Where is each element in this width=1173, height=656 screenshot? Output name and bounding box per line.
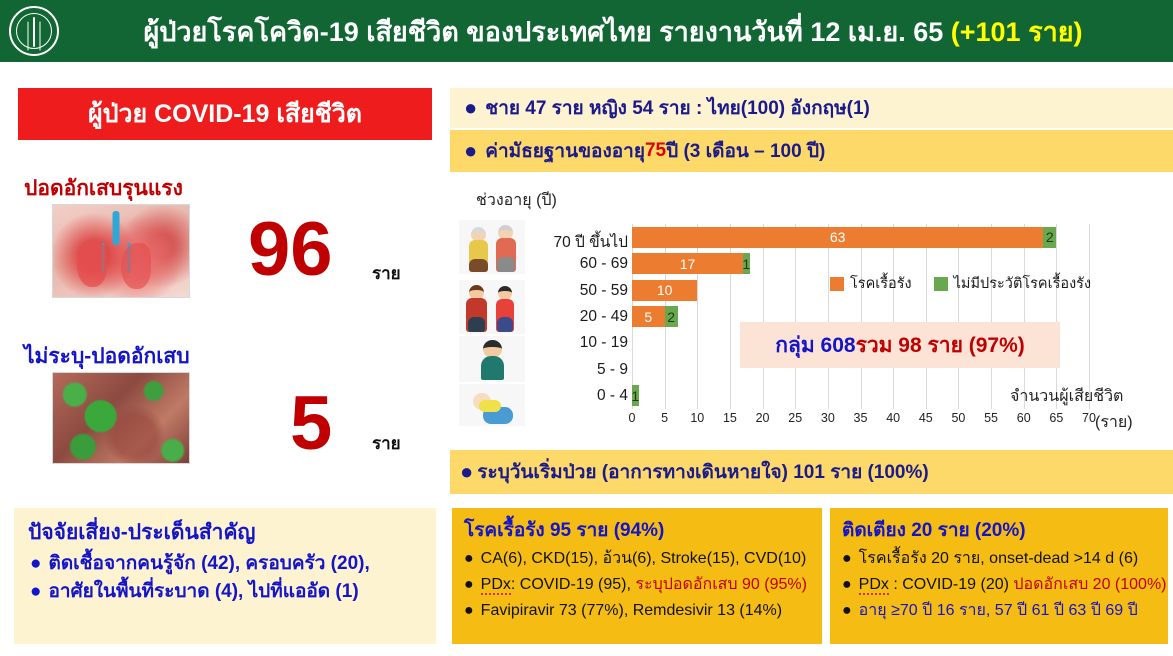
median-age-suffix: ปี (3 เดือน – 100 ปี) [666, 136, 825, 166]
chart-x-tick-label: 10 [690, 411, 704, 425]
chart-x-tick-label: 20 [756, 411, 770, 425]
chart-x-tick-label: 5 [661, 411, 668, 425]
chart-category-label: 10 - 19 [478, 334, 628, 352]
chronic-item-2-pdx: PDx [481, 576, 511, 595]
chronic-disease-title: โรคเรื้อรัง 95 ราย (94%) [464, 515, 664, 545]
legend-label-chronic: โรคเรื้อรัง [850, 272, 912, 295]
chart-category-label: 5 - 9 [478, 361, 628, 379]
chart-x-tick-label: 25 [788, 411, 802, 425]
chart-gridline [926, 224, 927, 409]
risk-factors-title: ปัจจัยเสี่ยง-ประเด็นสำคัญ [28, 516, 255, 549]
chart-gridline [991, 224, 992, 409]
chronic-disease-list: ●CA(6), CKD(15), อ้วน(6), Stroke(15), CV… [464, 546, 807, 624]
median-age-prefix: ค่ามัธยฐานของอายุ [485, 136, 645, 166]
legend-swatch-chronic [830, 277, 844, 291]
gender-nationality-text: ชาย 47 ราย หญิง 54 ราย : ไทย(100) อังกฤษ… [485, 93, 870, 123]
chart-gridline [861, 224, 862, 409]
chart-gridline [828, 224, 829, 409]
legend-item-none: ไม่มีประวัติโรคเรื้องรัง [934, 272, 1091, 295]
group-608-callout: กลุ่ม 608 รวม 98 ราย (97%) [740, 322, 1060, 368]
risk-item-text: อาศัยในพื้นที่ระบาด (4), ไปที่แออัด (1) [48, 581, 358, 602]
chart-x-tick-label: 30 [821, 411, 835, 425]
chart-gridline [1056, 224, 1057, 409]
chart-x-tick-label: 45 [919, 411, 933, 425]
callout-prefix: กลุ่ม 608 [775, 329, 855, 362]
chart-bar-segment: 1 [632, 385, 639, 406]
callout-highlight: รวม 98 ราย (97%) [856, 329, 1025, 362]
list-item: ●อายุ ≥70 ปี 16 ราย, 57 ปี 61 ปี 63 ปี 6… [842, 598, 1167, 624]
legend-swatch-none [934, 277, 948, 291]
chart-bar-segment: 1 [743, 253, 750, 274]
chart-x-axis: 0510152025303540455055606570 [632, 409, 1089, 431]
page-title: ผู้ป่วยโรคโควิด-19 เสียชีวิต ของประเทศไท… [65, 10, 1173, 53]
bed-item-2-highlight: ปอดอักเสบ 20 (100%) [1013, 576, 1166, 593]
list-item: ●PDx: COVID-19 (95), ระบุปอดอักเสบ 90 (9… [464, 572, 807, 598]
unspecified-pneumonia-count: 5 [290, 386, 332, 462]
chart-gridline [697, 224, 698, 409]
list-item: ●CA(6), CKD(15), อ้วน(6), Stroke(15), CV… [464, 546, 807, 572]
chart-category-label: 50 - 59 [478, 282, 628, 300]
chart-x-tick-label: 0 [629, 411, 636, 425]
chart-x-tick-label: 70 [1082, 411, 1096, 425]
page-header: ผู้ป่วยโรคโควิด-19 เสียชีวิต ของประเทศไท… [0, 0, 1173, 62]
severe-pneumonia-unit: ราย [372, 260, 401, 287]
chart-gridline [730, 224, 731, 409]
chart-gridline [1024, 224, 1025, 409]
list-item: ●Favipiravir 73 (77%), Remdesivir 13 (14… [464, 598, 807, 624]
infographic-page: ผู้ป่วยโรคโควิด-19 เสียชีวิต ของประเทศไท… [0, 0, 1173, 656]
bullet-icon: ● [842, 602, 852, 619]
severe-pneumonia-lungs-photo [52, 204, 190, 298]
chart-x-tick-label: 40 [886, 411, 900, 425]
chronic-item-3: Favipiravir 73 (77%), Remdesivir 13 (14%… [481, 602, 782, 619]
list-item: ●อาศัยในพื้นที่ระบาด (4), ไปที่แออัด (1) [30, 578, 370, 606]
risk-item-text: ติดเชื้อจากคนรู้จัก (42), ครอบครัว (20), [48, 553, 369, 574]
chart-plot-area: 70 ปี ขึ้นไป63260 - 6917150 - 591020 - 4… [632, 224, 1089, 409]
onset-date-row: ● ระบุวันเริ่มป่วย (อาการทางเดินหายใจ) 1… [450, 450, 1173, 494]
bedridden-box: ติดเตียง 20 ราย (20%) ●โรคเรื้อรัง 20 รา… [830, 508, 1168, 644]
severe-pneumonia-heading: ปอดอักเสบรุนแรง [24, 172, 183, 205]
chronic-disease-box: โรคเรื้อรัง 95 ราย (94%) ●CA(6), CKD(15)… [452, 508, 822, 644]
chart-gridline [893, 224, 894, 409]
moph-seal-icon [9, 6, 59, 56]
bullet-icon: ● [464, 550, 474, 567]
chart-bar-segment: 5 [632, 306, 665, 327]
bed-item-2-pdx: PDx [859, 576, 889, 595]
bullet-icon: ● [30, 553, 41, 574]
unspecified-pneumonia-unit: ราย [372, 430, 401, 457]
chart-x-tick-label: 50 [951, 411, 965, 425]
chart-x-tick-label: 15 [723, 411, 737, 425]
coronavirus-photo [52, 372, 190, 464]
chart-x-tick-label: 35 [854, 411, 868, 425]
chronic-item-2-mid: : COVID-19 (95), [511, 576, 635, 593]
chart-category-label: 60 - 69 [478, 255, 628, 273]
chronic-item-2-highlight: ระบุปอดอักเสบ 90 (95%) [635, 576, 807, 593]
list-item: ●ติดเชื้อจากคนรู้จัก (42), ครอบครัว (20)… [30, 550, 370, 578]
chart-gridline [1089, 224, 1090, 409]
chart-gridline [958, 224, 959, 409]
severe-pneumonia-count: 96 [248, 212, 333, 288]
median-age-row: ● ค่ามัธยฐานของอายุ 75 ปี (3 เดือน – 100… [450, 130, 1173, 172]
legend-label-none: ไม่มีประวัติโรคเรื้องรัง [954, 272, 1091, 295]
bullet-icon: ● [842, 550, 852, 567]
chart-category-label: 0 - 4 [478, 387, 628, 405]
chart-category-label: 70 ปี ขึ้นไป [478, 229, 628, 254]
median-age-value: 75 [645, 140, 666, 162]
chart-x-tick-label: 55 [984, 411, 998, 425]
age-distribution-chart: ช่วงอายุ (ปี) [450, 172, 1173, 450]
chart-legend: โรคเรื้อรัง ไม่มีประวัติโรคเรื้องรัง [830, 272, 1091, 295]
covid-death-banner-label: ผู้ป่วย COVID-19 เสียชีวิต [88, 94, 362, 134]
header-title-highlight: (+101 ราย) [951, 17, 1083, 47]
bullet-icon: ● [842, 576, 852, 593]
risk-factors-list: ●ติดเชื้อจากคนรู้จัก (42), ครอบครัว (20)… [30, 550, 370, 605]
chart-bar-segment: 2 [665, 306, 678, 327]
legend-item-chronic: โรคเรื้อรัง [830, 272, 912, 295]
chronic-item-1: CA(6), CKD(15), อ้วน(6), Stroke(15), CVD… [481, 550, 807, 567]
chart-x-tick-label: 65 [1049, 411, 1063, 425]
bullet-icon: ● [460, 461, 473, 483]
chart-x-unit: (ราย) [1095, 410, 1133, 435]
bullet-icon: ● [464, 140, 477, 162]
unspecified-pneumonia-heading: ไม่ระบุ-ปอดอักเสบ [24, 340, 190, 373]
bed-item-1: โรคเรื้อรัง 20 ราย, onset-dead >14 d (6) [859, 550, 1139, 567]
chart-bar-segment: 10 [632, 280, 697, 301]
chart-bar-segment: 2 [1043, 227, 1056, 248]
onset-date-text: ระบุวันเริ่มป่วย (อาการทางเดินหายใจ) 101… [477, 457, 928, 487]
chart-gridline [795, 224, 796, 409]
bullet-icon: ● [464, 576, 474, 593]
chart-ylabel: ช่วงอายุ (ปี) [476, 188, 557, 213]
list-item: ●โรคเรื้อรัง 20 ราย, onset-dead >14 d (6… [842, 546, 1167, 572]
gender-nationality-row: ● ชาย 47 ราย หญิง 54 ราย : ไทย(100) อังก… [450, 88, 1173, 128]
bed-item-2-mid: : COVID-19 (20) [889, 576, 1013, 593]
bullet-icon: ● [464, 602, 474, 619]
bullet-icon: ● [464, 97, 477, 119]
list-item: ●PDx : COVID-19 (20) ปอดอักเสบ 20 (100%) [842, 572, 1167, 598]
bedridden-title: ติดเตียง 20 ราย (20%) [842, 515, 1026, 545]
risk-factors-box: ปัจจัยเสี่ยง-ประเด็นสำคัญ ●ติดเชื้อจากคน… [14, 508, 436, 644]
bed-item-3: อายุ ≥70 ปี 16 ราย, 57 ปี 61 ปี 63 ปี 69… [859, 602, 1138, 619]
chart-category-label: 20 - 49 [478, 308, 628, 326]
header-title-main: ผู้ป่วยโรคโควิด-19 เสียชีวิต ของประเทศไท… [143, 17, 950, 47]
chart-bar-segment: 63 [632, 227, 1043, 248]
bedridden-list: ●โรคเรื้อรัง 20 ราย, onset-dead >14 d (6… [842, 546, 1167, 624]
chart-gridline [763, 224, 764, 409]
chart-x-tick-label: 60 [1017, 411, 1031, 425]
chart-bar-segment: 17 [632, 253, 743, 274]
bullet-icon: ● [30, 581, 41, 602]
covid-death-banner: ผู้ป่วย COVID-19 เสียชีวิต [18, 88, 432, 140]
chart-xlabel: จำนวนผู้เสียชีวิต [1010, 384, 1123, 409]
